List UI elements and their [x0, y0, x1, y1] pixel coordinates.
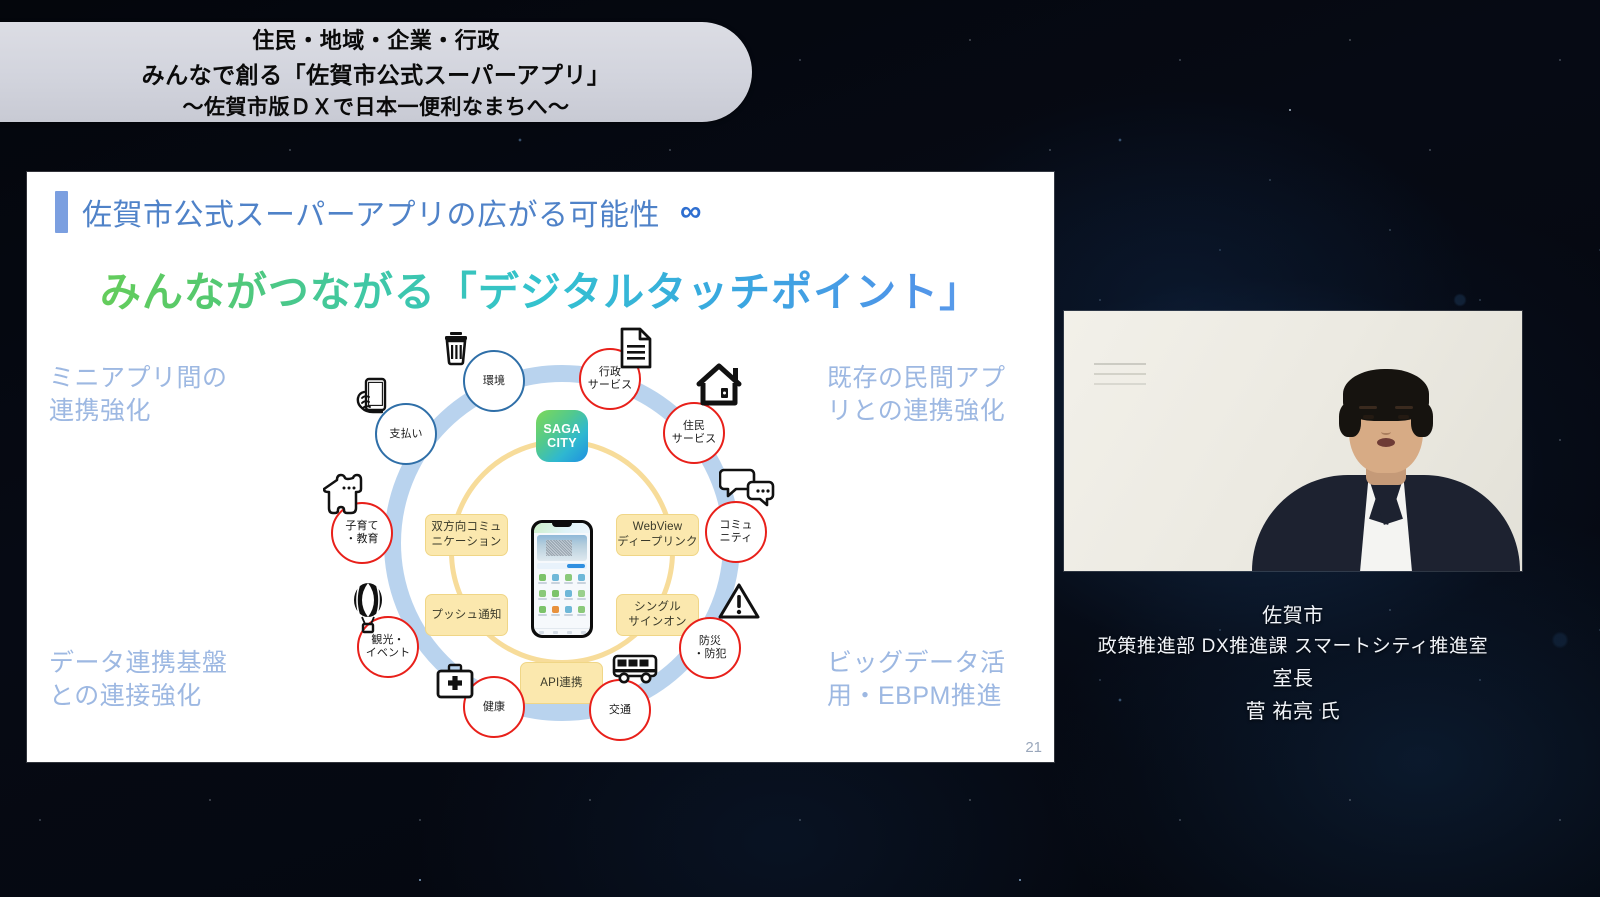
- phone-app-tile: [563, 603, 575, 618]
- phone-app-tile: [576, 571, 588, 586]
- smartphone-mockup: [531, 520, 593, 638]
- speaker-hair: [1343, 369, 1429, 421]
- credit-name: 菅 祐亮 氏: [1064, 696, 1522, 728]
- phone-app-tile: [576, 603, 588, 618]
- service-bubble-disaster: 防災 ・防犯: [679, 617, 741, 679]
- speaker-eye-right: [1398, 415, 1409, 419]
- speaker-eye-left: [1363, 415, 1374, 419]
- phone-app-tile: [536, 587, 548, 602]
- phone-action-bar: [537, 563, 587, 569]
- service-bubble-tourism: 観光・ イベント: [357, 616, 419, 678]
- title-accent-bar: [55, 191, 68, 233]
- logo-line-1: SAGA: [543, 422, 580, 436]
- webinar-stage: 住民・地域・企業・行政 みんなで創る「佐賀市公式スーパーアプリ」 〜佐賀市版ＤＸ…: [0, 0, 1600, 897]
- phone-notch: [552, 523, 572, 527]
- phone-app-tile: [576, 587, 588, 602]
- digital-touchpoint-diagram: SAGA CITY: [327, 324, 797, 762]
- slide-title-row: 佐賀市公式スーパーアプリの広がる可能性 ∞: [55, 190, 701, 234]
- speaker-portrait: [1236, 353, 1522, 571]
- capability-box-push-notification: プッシュ通知: [425, 594, 508, 636]
- speaker-credit: 佐賀市 政策推進部 DX推進課 スマートシティ推進室 室長 菅 祐亮 氏: [1064, 600, 1522, 728]
- credit-organization: 佐賀市: [1064, 600, 1522, 632]
- phone-app-tile: [563, 587, 575, 602]
- service-bubble-admin-service: 行政 サービス: [579, 348, 641, 410]
- caption-mini-app-linkage: ミニアプリ間の 連携強化: [49, 362, 228, 428]
- service-bubble-environment: 環境: [463, 350, 525, 412]
- saga-city-app-logo: SAGA CITY: [536, 410, 588, 462]
- infinity-icon: ∞: [680, 195, 701, 229]
- service-bubble-childcare: 子育て ・教育: [331, 502, 393, 564]
- phone-mini-app-grid: [536, 571, 588, 628]
- banner-line-3: 〜佐賀市版ＤＸで日本一便利なまちへ〜: [183, 91, 570, 121]
- phone-app-tile: [536, 571, 548, 586]
- phone-status-bar: [534, 523, 590, 533]
- phone-app-tile: [563, 571, 575, 586]
- presentation-slide[interactable]: 佐賀市公式スーパーアプリの広がる可能性 ∞ みんながつながる「デジタルタッチポイ…: [27, 172, 1054, 762]
- phone-app-tile: [549, 587, 561, 602]
- phone-app-tile: [536, 603, 548, 618]
- caption-bigdata-ebpm: ビッグデータ活 用・EBPM推進: [827, 647, 1006, 713]
- banner-line-1: 住民・地域・企業・行政: [252, 23, 500, 55]
- credit-role: 室長: [1064, 663, 1522, 695]
- service-bubble-transport: 交通: [589, 679, 651, 741]
- phone-hero-banner: [537, 535, 587, 561]
- slide-title: 佐賀市公式スーパーアプリの広がる可能性: [82, 190, 660, 234]
- speaker-mouth: [1377, 438, 1395, 447]
- service-bubble-community: コミュ ニティ: [705, 501, 767, 563]
- service-bubble-resident-service: 住民 サービス: [663, 402, 725, 464]
- speaker-video-feed[interactable]: [1064, 311, 1522, 571]
- capability-box-webview-deeplink: WebView ディープリンク: [616, 514, 699, 556]
- capability-box-two-way-communication: 双方向コミュ ニケーション: [425, 514, 508, 556]
- slide-subtitle: みんながつながる「デジタルタッチポイント」: [27, 258, 1054, 318]
- logo-line-2: CITY: [547, 436, 577, 450]
- phone-tab-bar: [534, 628, 590, 635]
- caption-private-app-linkage: 既存の民間アプ リとの連携強化: [827, 362, 1006, 428]
- phone-app-tile: [549, 571, 561, 586]
- service-bubble-payment: 支払い: [375, 403, 437, 465]
- phone-screen: [534, 523, 590, 635]
- service-bubble-health: 健康: [463, 676, 525, 738]
- house-icon: [695, 362, 747, 408]
- speaker-eyebrows: [1359, 406, 1413, 409]
- caption-data-platform: データ連携基盤 との連接強化: [49, 647, 228, 713]
- phone-app-tile: [549, 603, 561, 618]
- credit-department: 政策推進部 DX推進課 スマートシティ推進室: [1064, 632, 1522, 663]
- slide-page-number: 21: [1025, 739, 1042, 756]
- banner-line-2: みんなで創る「佐賀市公式スーパーアプリ」: [142, 56, 611, 90]
- speaker-nose: [1381, 429, 1391, 435]
- webinar-title-banner: 住民・地域・企業・行政 みんなで創る「佐賀市公式スーパーアプリ」 〜佐賀市版ＤＸ…: [0, 22, 752, 122]
